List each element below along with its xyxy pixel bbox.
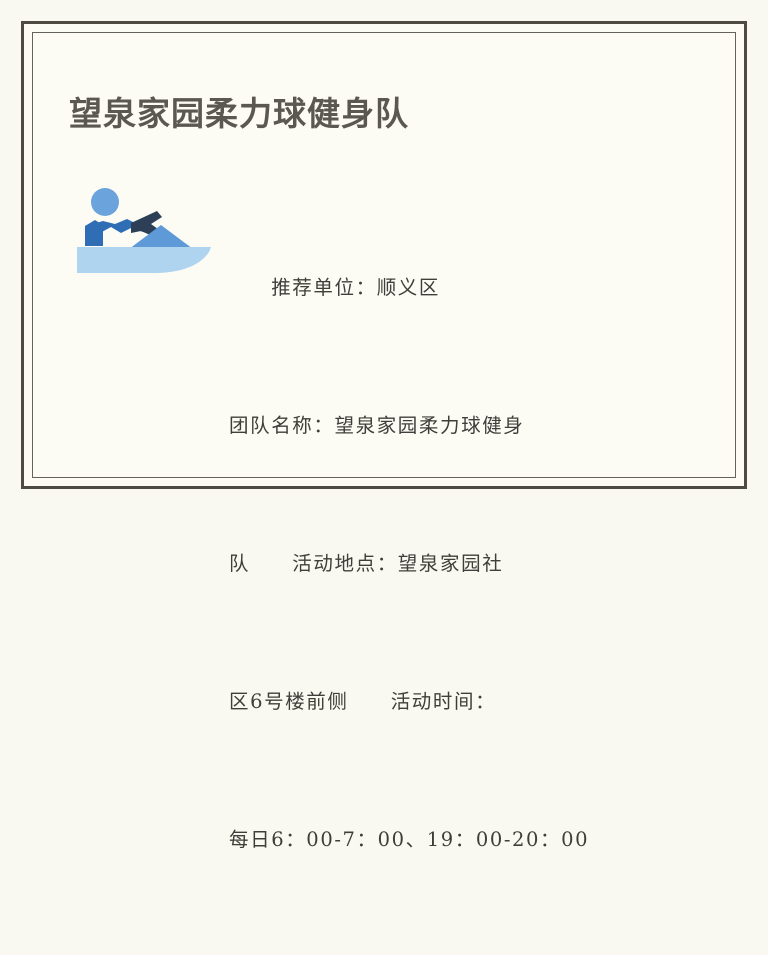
info-line-team-name: 团队名称：望泉家园柔力球健身 [229,403,645,449]
team-info-block: 推荐单位：顺义区 团队名称：望泉家园柔力球健身 队 活动地点：望泉家园社 区6号… [229,173,735,955]
info-line-activity-time: 每日6：00-7：00、19：00-20：00 [229,817,645,863]
info-line-recommending-unit: 推荐单位：顺义区 [229,265,645,311]
content-row: 推荐单位：顺义区 团队名称：望泉家园柔力球健身 队 活动地点：望泉家园社 区6号… [33,161,735,955]
page-title: 望泉家园柔力球健身队 [69,93,409,134]
info-line-activity-location-cont: 区6号楼前侧 活动时间： [229,679,645,725]
info-line-activity-location: 队 活动地点：望泉家园社 [229,541,645,587]
person-rowing-icon [69,183,219,283]
content-card-frame: 望泉家园柔力球健身队 [21,21,747,489]
content-card-inner-border: 望泉家园柔力球健身队 [32,32,736,478]
